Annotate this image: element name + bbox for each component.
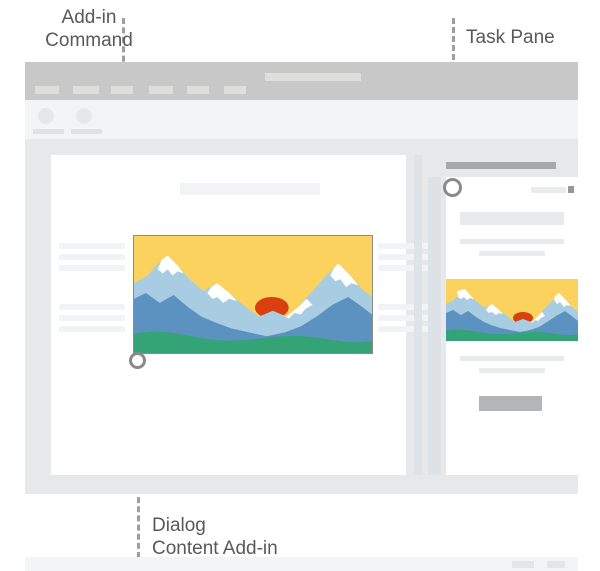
document-text-line — [378, 254, 432, 260]
mountain-sunset-illustration — [446, 279, 578, 341]
ribbon-tab-6[interactable] — [224, 86, 246, 94]
document-text-line — [59, 326, 125, 332]
ribbon-gallery-label-1 — [33, 129, 64, 134]
ribbon-tab-5[interactable] — [187, 86, 209, 94]
task-pane-action-button[interactable] — [479, 396, 542, 411]
document-text-line — [378, 265, 432, 271]
task-pane-picture[interactable] — [446, 279, 578, 341]
document-text-line — [59, 304, 125, 310]
task-pane-left-gutter — [428, 177, 441, 475]
ribbon-tab-3[interactable] — [111, 86, 133, 94]
document-picture[interactable] — [133, 235, 373, 354]
document-text-line — [59, 265, 125, 271]
task-pane-header-bar — [446, 162, 556, 169]
task-pane-heading-block — [460, 212, 564, 225]
ribbon-gallery-label-2 — [71, 129, 102, 134]
task-pane-body — [446, 177, 578, 475]
status-bar — [25, 557, 578, 571]
ribbon-body — [25, 100, 578, 139]
task-pane-title-chip — [531, 187, 566, 193]
callout-anchor-task-pane — [443, 178, 462, 197]
ribbon-gallery-icon-2[interactable] — [76, 108, 92, 124]
ribbon-tab-strip — [25, 62, 578, 100]
document-text-line — [378, 243, 432, 249]
callout-label-addin-command: Add-in Command — [34, 6, 144, 52]
mountain-sunset-illustration — [134, 236, 372, 353]
document-scrollbar[interactable] — [414, 155, 422, 475]
document-text-line — [378, 326, 432, 332]
document-text-line — [59, 315, 125, 321]
app-window — [25, 62, 578, 494]
status-chip-2[interactable] — [547, 561, 565, 568]
ribbon-tab-2[interactable] — [73, 86, 99, 94]
document-text-line — [378, 315, 432, 321]
close-icon[interactable] — [568, 186, 574, 193]
callout-label-task-pane: Task Pane — [466, 26, 555, 49]
ribbon-tab-1[interactable] — [35, 86, 59, 94]
document-text-line — [59, 254, 125, 260]
document-title-chip — [180, 183, 320, 195]
window-title-chip — [265, 73, 361, 81]
task-pane-text-line — [460, 356, 564, 361]
task-pane-panel[interactable] — [428, 155, 578, 475]
document-text-line — [59, 243, 125, 249]
task-pane-text-line — [479, 251, 545, 256]
task-pane-text-line — [460, 239, 564, 244]
document-text-line — [378, 304, 432, 310]
ribbon-tab-4[interactable] — [149, 86, 173, 94]
task-pane-text-line — [479, 368, 545, 373]
document-page[interactable] — [51, 155, 406, 475]
diagram-root: Add-in Command Task Pane Dialog Content … — [0, 0, 600, 571]
workspace — [25, 139, 578, 494]
callout-label-dialog-content-addin: Dialog Content Add-in — [152, 514, 278, 560]
callout-anchor-dialog-content-addin — [129, 352, 146, 369]
ribbon-gallery-icon-1[interactable] — [38, 108, 54, 124]
status-chip-1[interactable] — [512, 561, 534, 568]
